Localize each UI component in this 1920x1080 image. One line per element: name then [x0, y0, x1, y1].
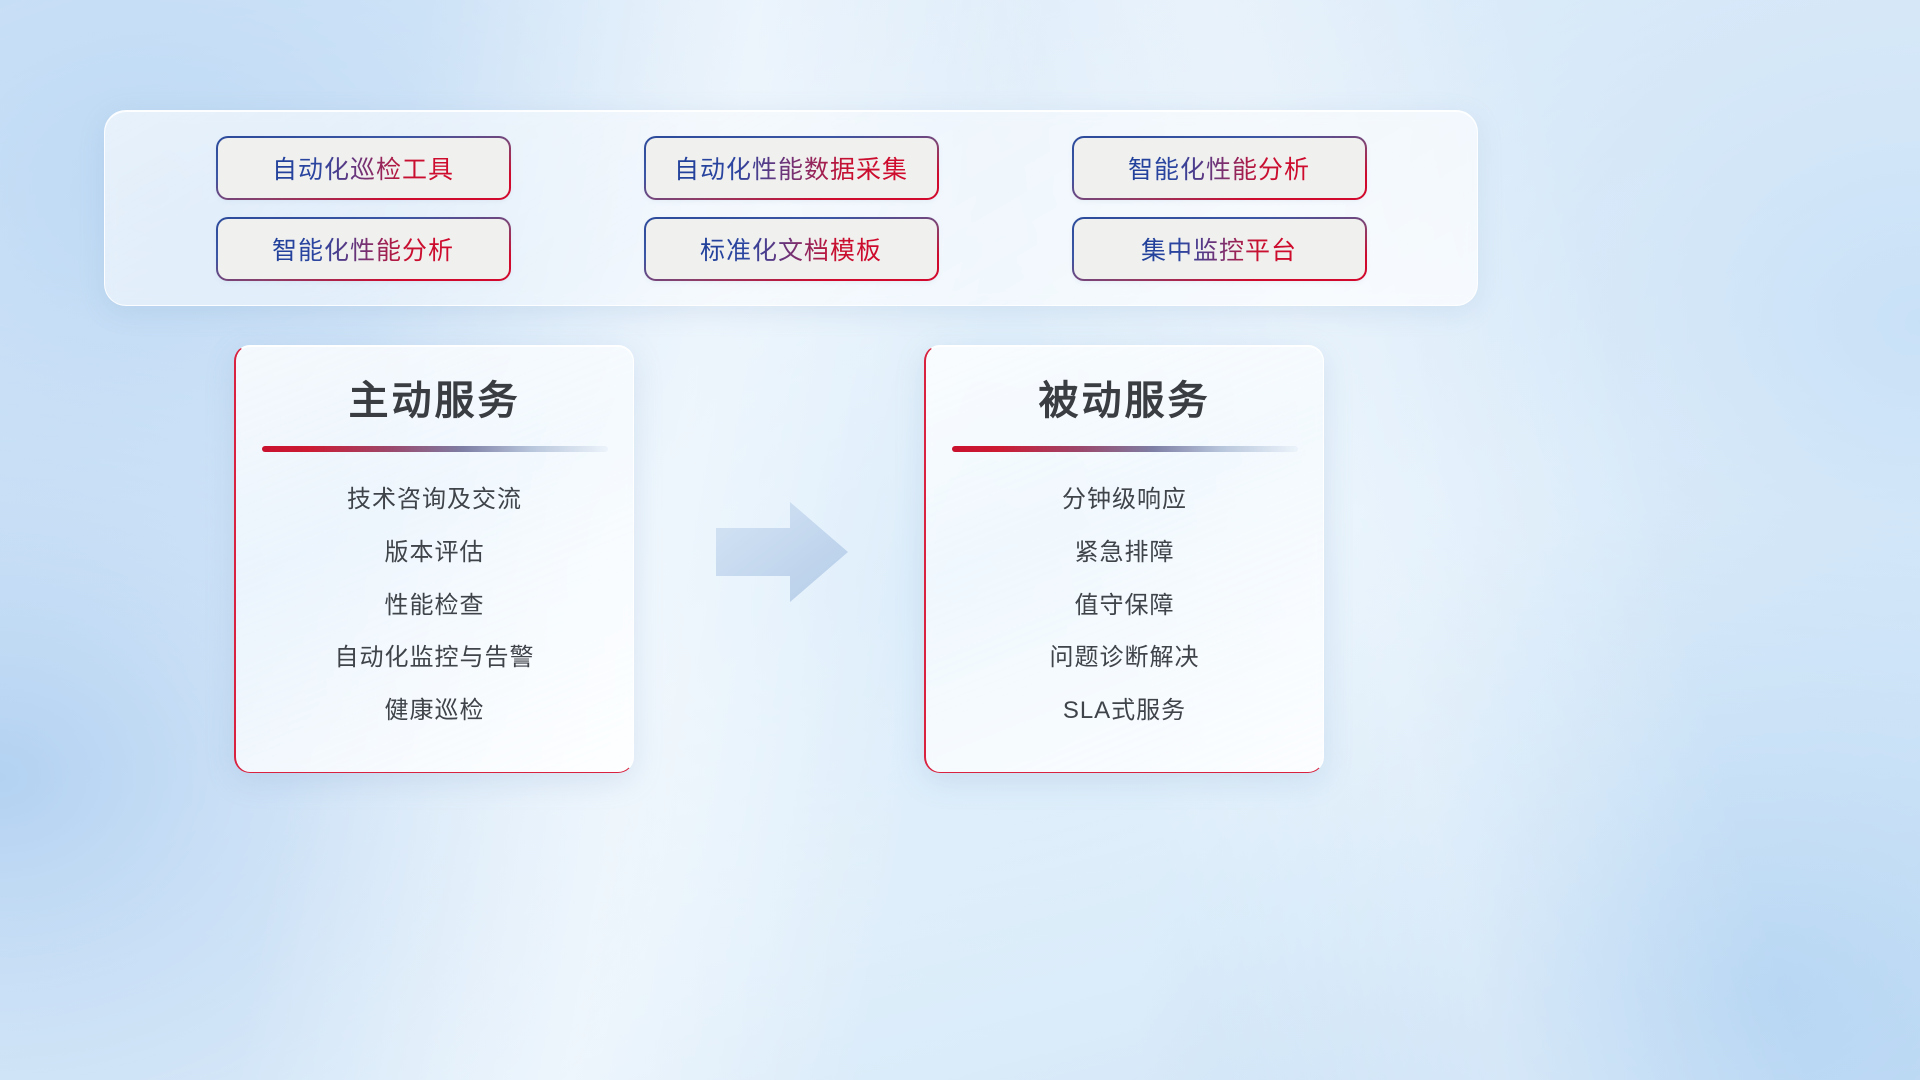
capability-pill-3[interactable]: 智能化性能分析	[1074, 138, 1365, 198]
list-item: 版本评估	[385, 539, 485, 568]
list-item: SLA式服务	[1063, 697, 1186, 726]
card-item-list: 技术咨询及交流 版本评估 性能检查 自动化监控与告警 健康巡检	[260, 486, 609, 726]
list-item: 问题诊断解决	[1050, 644, 1200, 673]
list-item: 性能检查	[385, 592, 485, 621]
card-title: 被动服务	[1039, 376, 1211, 426]
capability-pill-label: 自动化性能数据采集	[674, 150, 908, 186]
list-item: 分钟级响应	[1062, 486, 1187, 515]
list-item: 自动化监控与告警	[335, 644, 535, 673]
capability-pill-label: 自动化巡检工具	[272, 150, 454, 186]
arrow-right-icon	[712, 498, 852, 606]
list-item: 值守保障	[1075, 592, 1175, 621]
card-divider	[952, 446, 1298, 452]
list-item: 健康巡检	[385, 697, 485, 726]
capability-pill-label: 智能化性能分析	[1128, 150, 1310, 186]
capability-pill-label: 集中监控平台	[1141, 231, 1297, 267]
capability-pill-5[interactable]: 标准化文档模板	[646, 219, 937, 279]
list-item: 技术咨询及交流	[347, 486, 522, 515]
service-card-proactive: 主动服务 技术咨询及交流 版本评估 性能检查 自动化监控与告警 健康巡检	[234, 345, 634, 773]
service-card-reactive: 被动服务 分钟级响应 紧急排障 值守保障 问题诊断解决 SLA式服务	[924, 345, 1324, 773]
capability-tags-panel: 自动化巡检工具 自动化性能数据采集 智能化性能分析 智能化性能分析 标准化文档模…	[104, 110, 1478, 306]
capability-pill-4[interactable]: 智能化性能分析	[218, 219, 509, 279]
card-divider	[262, 446, 608, 452]
capability-pill-label: 标准化文档模板	[700, 231, 882, 267]
capability-pill-1[interactable]: 自动化巡检工具	[218, 138, 509, 198]
capability-pill-2[interactable]: 自动化性能数据采集	[646, 138, 937, 198]
capability-pill-label: 智能化性能分析	[272, 231, 454, 267]
list-item: 紧急排障	[1075, 539, 1175, 568]
card-item-list: 分钟级响应 紧急排障 值守保障 问题诊断解决 SLA式服务	[950, 486, 1299, 726]
card-title: 主动服务	[349, 376, 521, 426]
capability-pill-6[interactable]: 集中监控平台	[1074, 219, 1365, 279]
slide-canvas: 自动化巡检工具 自动化性能数据采集 智能化性能分析 智能化性能分析 标准化文档模…	[0, 0, 1920, 1080]
